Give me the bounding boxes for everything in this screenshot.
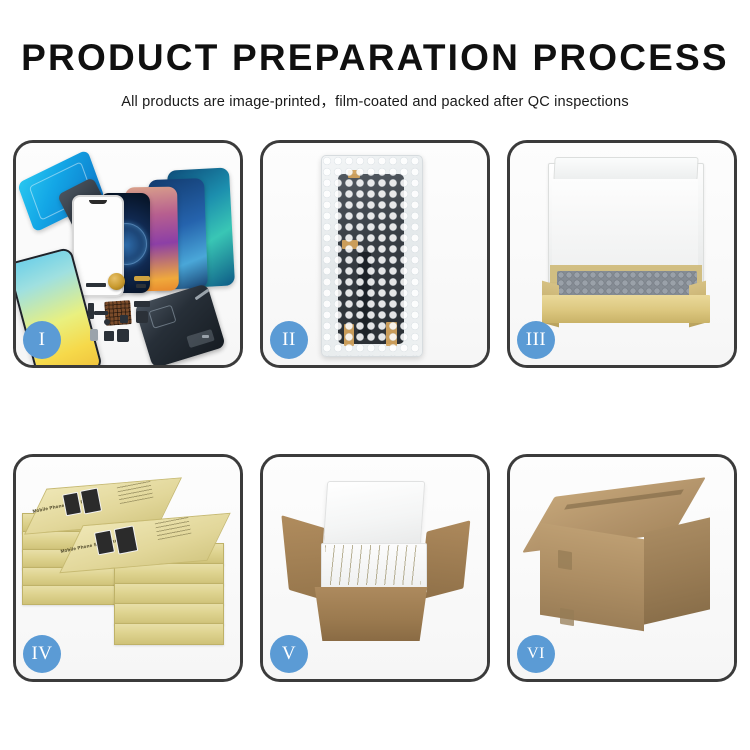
spare-part [104, 319, 110, 325]
panel-3-badge: III [517, 321, 555, 359]
spare-part [104, 331, 114, 341]
process-panel-grid: I II III [13, 140, 737, 682]
foam-insert [552, 179, 698, 267]
box-edge [22, 585, 116, 605]
bubble-texture [322, 156, 422, 356]
yellow-boxes-inside [325, 545, 421, 585]
carton-flap-right [420, 520, 471, 599]
panel-3-image: III [510, 143, 734, 365]
spare-part [94, 311, 108, 315]
panel-4-image: Mobile Phone Spare Parts Mobile Phone Sp… [16, 457, 240, 679]
process-step-panel-3[interactable]: III [507, 140, 737, 368]
panel-6-image: VI [510, 457, 734, 679]
panel-5-badge: V [270, 635, 308, 673]
spare-part [120, 315, 128, 323]
spare-part [134, 301, 150, 307]
phone-back-housing [134, 283, 226, 365]
carton-front-face [540, 523, 644, 631]
panel-1-image: I [16, 143, 240, 365]
page-title: PRODUCT PREPARATION PROCESS [0, 0, 750, 79]
spare-part [136, 284, 146, 288]
process-step-panel-1[interactable]: I [13, 140, 243, 368]
spare-part [90, 329, 98, 341]
panel-4-badge: IV [23, 635, 61, 673]
page-subtitle: All products are image-printed，film-coat… [0, 79, 750, 111]
spare-part [136, 311, 148, 323]
process-step-panel-2[interactable]: II [260, 140, 490, 368]
box-edge [114, 583, 224, 605]
panel-1-badge: I [23, 321, 61, 359]
foam-lid [323, 481, 425, 545]
spare-part [202, 335, 209, 338]
carton-side-face [644, 517, 710, 624]
panel-5-image: V [263, 457, 487, 679]
process-step-panel-5[interactable]: V [260, 454, 490, 682]
box-edge [114, 603, 224, 625]
panel-2-badge: II [270, 321, 308, 359]
box-front-panel [542, 295, 710, 323]
process-step-panel-4[interactable]: Mobile Phone Spare Parts Mobile Phone Sp… [13, 454, 243, 682]
carton-front [307, 587, 435, 641]
panel-2-image: II [263, 143, 487, 365]
bubble-wrap-bag [321, 155, 423, 357]
carton-tape [560, 608, 574, 626]
carton-tape [558, 550, 572, 570]
header: PRODUCT PREPARATION PROCESS All products… [0, 0, 750, 111]
spare-part [86, 283, 106, 287]
gold-coil-part [108, 273, 125, 290]
process-step-panel-6[interactable]: VI [507, 454, 737, 682]
box-edge [114, 623, 224, 645]
panel-6-badge: VI [517, 635, 555, 673]
notch-icon [89, 200, 107, 204]
lid-flap [553, 157, 698, 181]
spare-part [117, 329, 129, 342]
spare-part [134, 276, 150, 281]
